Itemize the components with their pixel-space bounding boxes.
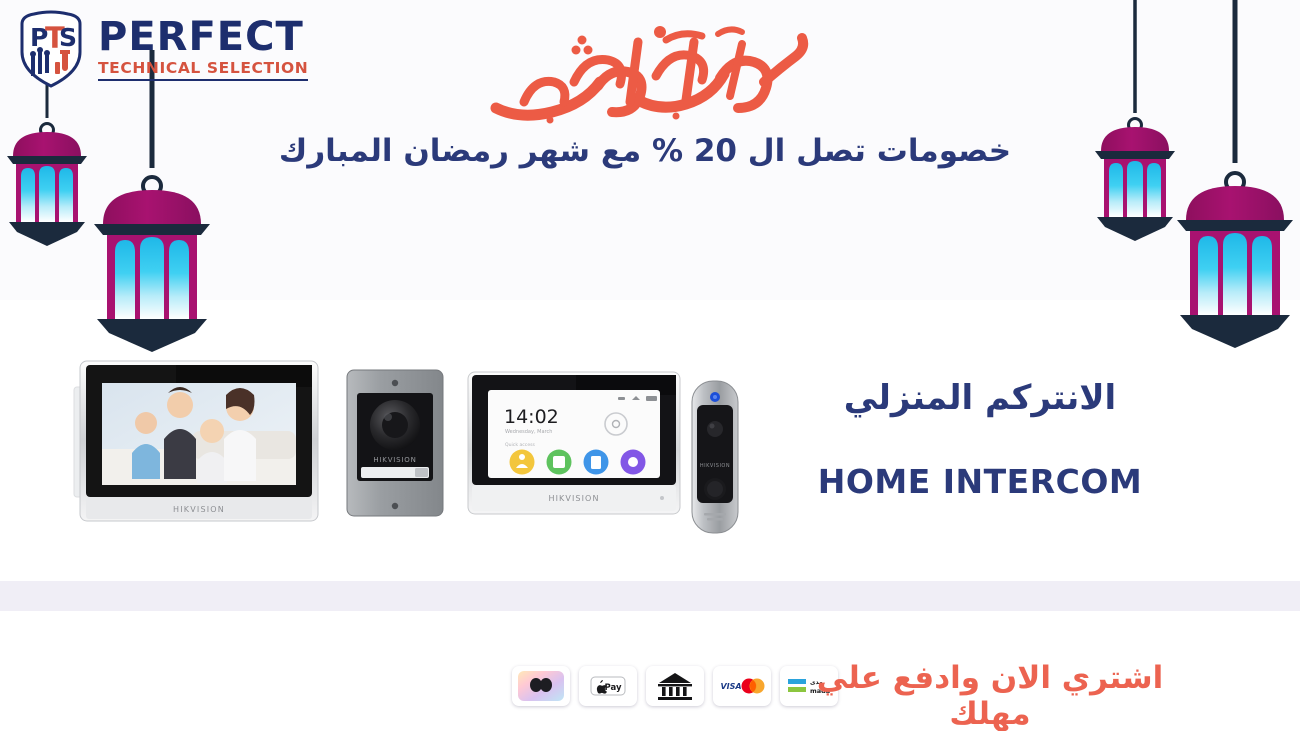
product-title-english: HOME INTERCOM — [800, 462, 1160, 501]
panel-clock-time: 14:02 — [504, 406, 559, 428]
payment-method-bank-transfer[interactable] — [646, 666, 704, 706]
svg-text:Wednesday, March: Wednesday, March — [505, 429, 552, 435]
device-touchscreen-panel: 14:02 Wednesday, March Quick access HIKV… — [466, 370, 682, 516]
lantern-right-small — [1095, 0, 1175, 241]
device-door-station: HIKVISION — [344, 367, 446, 519]
device-video-doorbell: HIKVISION — [684, 377, 746, 537]
company-logo: P T S PERFECT TECHNICAL SELECTION — [14, 8, 308, 90]
payment-method-tabby[interactable] — [512, 666, 570, 706]
svg-text:HIKVISION: HIKVISION — [548, 494, 599, 503]
discount-headline: خصومات تصل ال 20 % مع شهر رمضان المبارك — [250, 133, 1040, 169]
ramadan-mubarak-calligraphy — [480, 16, 810, 128]
svg-text:S: S — [59, 23, 77, 52]
svg-text:Quick access: Quick access — [505, 442, 536, 448]
pts-shield-icon: P T S — [14, 8, 88, 90]
svg-text:VISA: VISA — [720, 682, 741, 691]
logo-tagline: TECHNICAL SELECTION — [98, 61, 308, 82]
svg-text:HIKVISION: HIKVISION — [700, 463, 730, 469]
ramadan-promo-banner: P T S PERFECT TECHNICAL SELECTION — [0, 0, 1300, 731]
svg-text:HIKVISION: HIKVISION — [173, 505, 225, 514]
lantern-left-large — [94, 50, 210, 352]
payment-methods-row: Pay VISA — [512, 666, 838, 706]
bank-icon — [658, 673, 692, 700]
lantern-right-large — [1177, 0, 1293, 348]
svg-text:HIKVISION: HIKVISION — [373, 456, 416, 464]
svg-text:Pay: Pay — [604, 683, 621, 693]
payment-method-apple-pay[interactable]: Pay — [579, 666, 637, 706]
logo-wordmark: PERFECT TECHNICAL SELECTION — [98, 17, 308, 82]
logo-brand-name: PERFECT — [98, 17, 308, 57]
payment-method-visa-mastercard[interactable]: VISA — [713, 666, 771, 706]
device-indoor-video-monitor: HIKVISION — [72, 357, 322, 527]
buy-now-pay-later-slogan: اشتري الان وادفع علي مهلك — [810, 660, 1170, 731]
product-title-arabic: الانتركم المنزلي — [800, 378, 1160, 418]
